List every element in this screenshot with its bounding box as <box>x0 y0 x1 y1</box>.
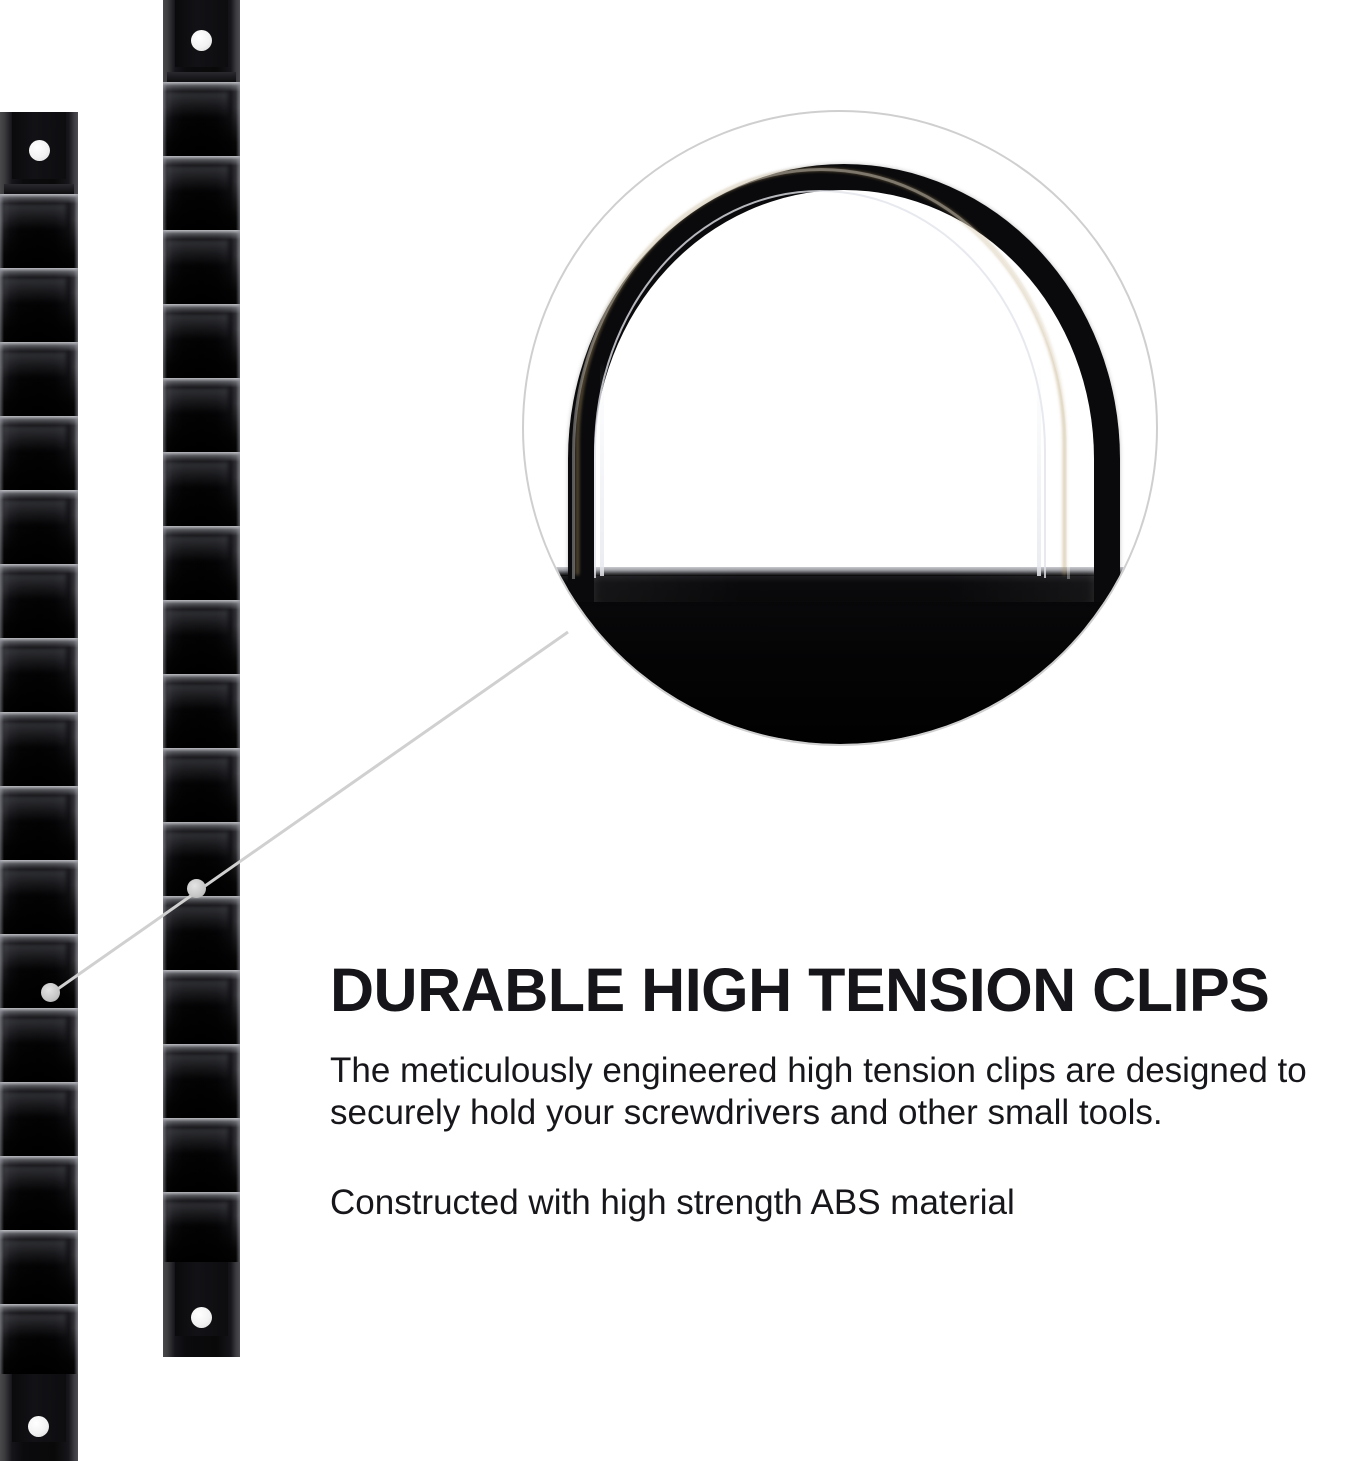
clip-segment <box>163 1044 240 1118</box>
clip-segment <box>0 860 78 934</box>
clip-segment <box>0 1230 78 1304</box>
clip-segment <box>163 82 240 156</box>
clip-segment <box>0 194 78 268</box>
clip-rail-left <box>0 112 78 1461</box>
clip-segment <box>0 712 78 786</box>
clip-segment <box>0 638 78 712</box>
rail-left-top-screw-hole <box>29 140 50 161</box>
clip-segment <box>163 674 240 748</box>
clip-segment <box>0 1008 78 1082</box>
clip-segment <box>163 896 240 970</box>
clip-segment <box>163 970 240 1044</box>
clip-segment <box>0 1304 78 1374</box>
callout-anchor-dot-lower <box>41 983 60 1002</box>
clip-segment <box>163 1192 240 1262</box>
clip-segment <box>163 304 240 378</box>
clip-segment <box>163 526 240 600</box>
clip-detail-magnifier <box>522 110 1158 746</box>
clip-segment <box>163 230 240 304</box>
clip-segment <box>163 748 240 822</box>
feature-text-block: DURABLE HIGH TENSION CLIPS The meticulou… <box>330 958 1350 1224</box>
rail-left-body <box>0 194 78 1374</box>
feature-description: The meticulously engineered high tension… <box>330 1050 1340 1134</box>
clip-segment <box>163 156 240 230</box>
clip-segment <box>0 934 78 1008</box>
clip-segment <box>163 600 240 674</box>
clip-segment <box>0 490 78 564</box>
product-feature-image: DURABLE HIGH TENSION CLIPS The meticulou… <box>0 0 1356 1461</box>
clip-segment <box>0 564 78 638</box>
clip-segment <box>163 1118 240 1192</box>
clip-segment <box>0 416 78 490</box>
magnified-arch-left-leg-gloss <box>600 362 604 576</box>
clip-segment <box>0 1082 78 1156</box>
clip-segment <box>0 268 78 342</box>
callout-line <box>52 632 568 993</box>
clip-rail-right <box>163 0 240 1357</box>
clip-segment <box>0 342 78 416</box>
rail-right-body <box>163 82 240 1262</box>
rail-left-bottom-screw-hole <box>28 1416 49 1437</box>
magnified-arch-right-leg-gloss <box>1037 362 1041 576</box>
clip-segment <box>0 1156 78 1230</box>
callout-anchor-dot-upper <box>187 879 206 898</box>
rail-right-top-screw-hole <box>191 30 212 51</box>
clip-segment <box>0 786 78 860</box>
rail-right-bottom-screw-hole <box>191 1307 212 1328</box>
feature-material-note: Constructed with high strength ABS mater… <box>330 1182 1350 1224</box>
feature-headline: DURABLE HIGH TENSION CLIPS <box>330 958 1350 1022</box>
clip-segment <box>163 378 240 452</box>
clip-segment <box>163 452 240 526</box>
